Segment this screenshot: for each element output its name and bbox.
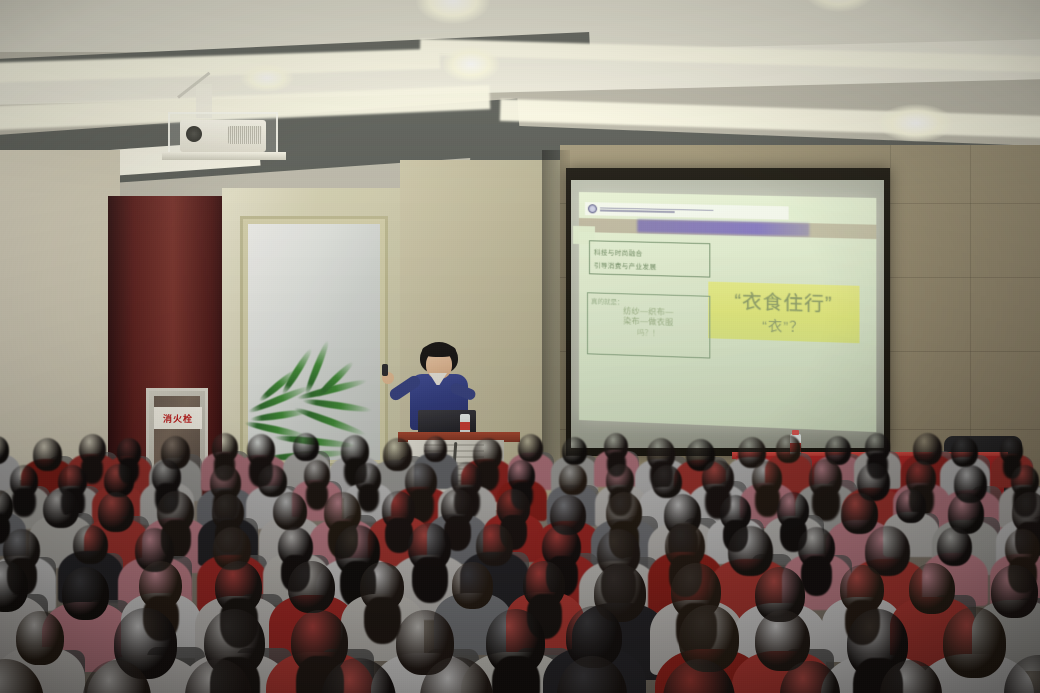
audience-member-head xyxy=(273,492,307,530)
slide-content: 科技与时尚融合 引导消费与产业发展 “衣食住行” “衣”？ 真的就是： 纺纱—织… xyxy=(579,192,876,432)
slide-org-text xyxy=(600,207,713,213)
audience-member-head xyxy=(780,661,840,693)
audience-member xyxy=(780,661,894,693)
audience-member-head xyxy=(420,657,493,693)
audience-member-head xyxy=(518,434,543,462)
screen-surface: 科技与时尚融合 引导消费与产业发展 “衣食住行” “衣”？ 真的就是： 纺纱—织… xyxy=(571,180,884,448)
slide-box-top: 科技与时尚融合 引导消费与产业发展 xyxy=(589,240,710,277)
audience-member-head xyxy=(476,524,513,566)
audience-member-head xyxy=(321,658,396,693)
audience-member-head xyxy=(16,611,64,665)
slide-box-top-line2: 引导消费与产业发展 xyxy=(594,259,705,272)
audience-member-head xyxy=(185,659,252,693)
presentation-clicker xyxy=(382,364,388,376)
projector-lens-icon xyxy=(186,126,202,142)
audience-member-head xyxy=(0,659,44,693)
audience-member-head xyxy=(557,656,627,693)
audience-member-head xyxy=(562,437,587,465)
audience-member xyxy=(420,657,559,693)
ceiling-downlight xyxy=(240,64,294,92)
fire-hydrant-sign: 消火栓 xyxy=(154,407,202,429)
ceiling-downlight xyxy=(442,46,500,82)
audience-member xyxy=(1004,655,1040,693)
audience-member-head xyxy=(424,436,448,462)
projector-vent-icon xyxy=(228,126,262,144)
audience-member xyxy=(880,660,998,693)
ceiling-downlight xyxy=(878,104,954,142)
slide-box-bottom-tail: 吗？！ xyxy=(591,325,706,340)
audience-member-head xyxy=(880,660,942,693)
audience-member-head xyxy=(937,527,972,566)
university-seal-icon xyxy=(588,204,597,213)
audience-member-head xyxy=(288,561,335,613)
slide-box-top-line1: 科技与时尚融合 xyxy=(594,246,705,259)
audience-member-head xyxy=(776,435,801,463)
audience-member-head xyxy=(452,562,494,609)
slide-highlight-block: “衣食住行” “衣”？ xyxy=(708,282,859,344)
slide-box-bottom: 真的就是： 纺纱—织布— 染布—做衣服 吗？！ xyxy=(587,292,710,358)
slide-logo-bar xyxy=(585,202,789,220)
projector-tray xyxy=(162,152,286,160)
audience xyxy=(0,430,1040,693)
audience-member-head xyxy=(43,489,78,529)
audience-member-head xyxy=(73,525,108,564)
audience-member-head xyxy=(896,489,926,523)
audience-member xyxy=(663,659,800,693)
slide-highlight-sub: “衣”？ xyxy=(762,316,805,338)
bottle-label xyxy=(460,422,470,430)
projector-body xyxy=(180,120,266,152)
presenter-fringe xyxy=(422,344,456,357)
audience-member xyxy=(185,659,312,693)
projection-screen: 科技与时尚融合 引导消费与产业发展 “衣食住行” “衣”？ 真的就是： 纺纱—织… xyxy=(566,168,890,456)
audience-member-head xyxy=(559,464,587,495)
slide-highlight-main: “衣食住行” xyxy=(735,286,833,316)
audience-member-head xyxy=(1004,655,1040,693)
lecture-hall-photo: 消火栓 科技与时尚融合 引导消费与产业发展 “衣食 xyxy=(0,0,1040,693)
audience-member-head xyxy=(83,660,152,693)
audience-member-head xyxy=(293,433,318,461)
audience-member-head xyxy=(663,659,735,693)
